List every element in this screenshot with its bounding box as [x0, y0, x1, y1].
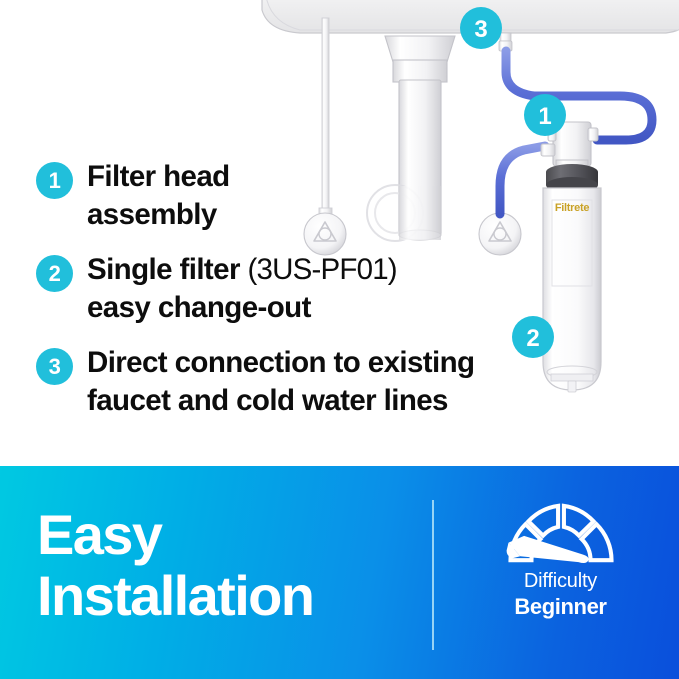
- feature-badge-3: 3: [36, 348, 73, 385]
- feature-3-line1: Direct connection to existing: [87, 346, 474, 379]
- feature-text-3: Direct connection to existing faucet and…: [87, 344, 474, 420]
- feature-item-2: 2 Single filter (3US-PF01) easy change-o…: [36, 251, 636, 327]
- difficulty-value: Beginner: [478, 594, 643, 620]
- difficulty-gauge-icon: [502, 498, 620, 566]
- feature-1-line2: assembly: [87, 198, 217, 231]
- feature-item-3: 3 Direct connection to existing faucet a…: [36, 344, 636, 420]
- headline-line-2: Installation: [37, 565, 313, 626]
- feature-3-line2: faucet and cold water lines: [87, 384, 448, 417]
- difficulty-block: Difficulty Beginner: [478, 498, 643, 620]
- banner-headline: Easy Installation: [37, 504, 313, 626]
- callout-badge-3: 3: [460, 7, 502, 49]
- svg-text:1: 1: [538, 103, 551, 130]
- feature-badge-1: 1: [36, 162, 73, 199]
- headline-line-1: Easy: [37, 504, 313, 565]
- feature-1-line1: Filter head: [87, 160, 230, 193]
- callout-badge-1: 1: [524, 94, 566, 136]
- feature-text-1: Filter head assembly: [87, 158, 230, 234]
- feature-text-2: Single filter (3US-PF01) easy change-out: [87, 251, 397, 327]
- difficulty-label: Difficulty: [478, 570, 643, 594]
- feature-2-model-number: (3US-PF01): [247, 253, 396, 286]
- feature-badge-2: 2: [36, 255, 73, 292]
- svg-text:3: 3: [474, 16, 487, 43]
- feature-2-line1: Single filter: [87, 253, 240, 286]
- banner-vertical-divider: [432, 500, 434, 650]
- feature-list: 1 Filter head assembly 2 Single filter (…: [36, 158, 636, 437]
- feature-item-1: 1 Filter head assembly: [36, 158, 636, 234]
- feature-2-line2: easy change-out: [87, 291, 311, 324]
- product-infographic: Filtrete 1 2 3 1 Filter: [0, 0, 679, 679]
